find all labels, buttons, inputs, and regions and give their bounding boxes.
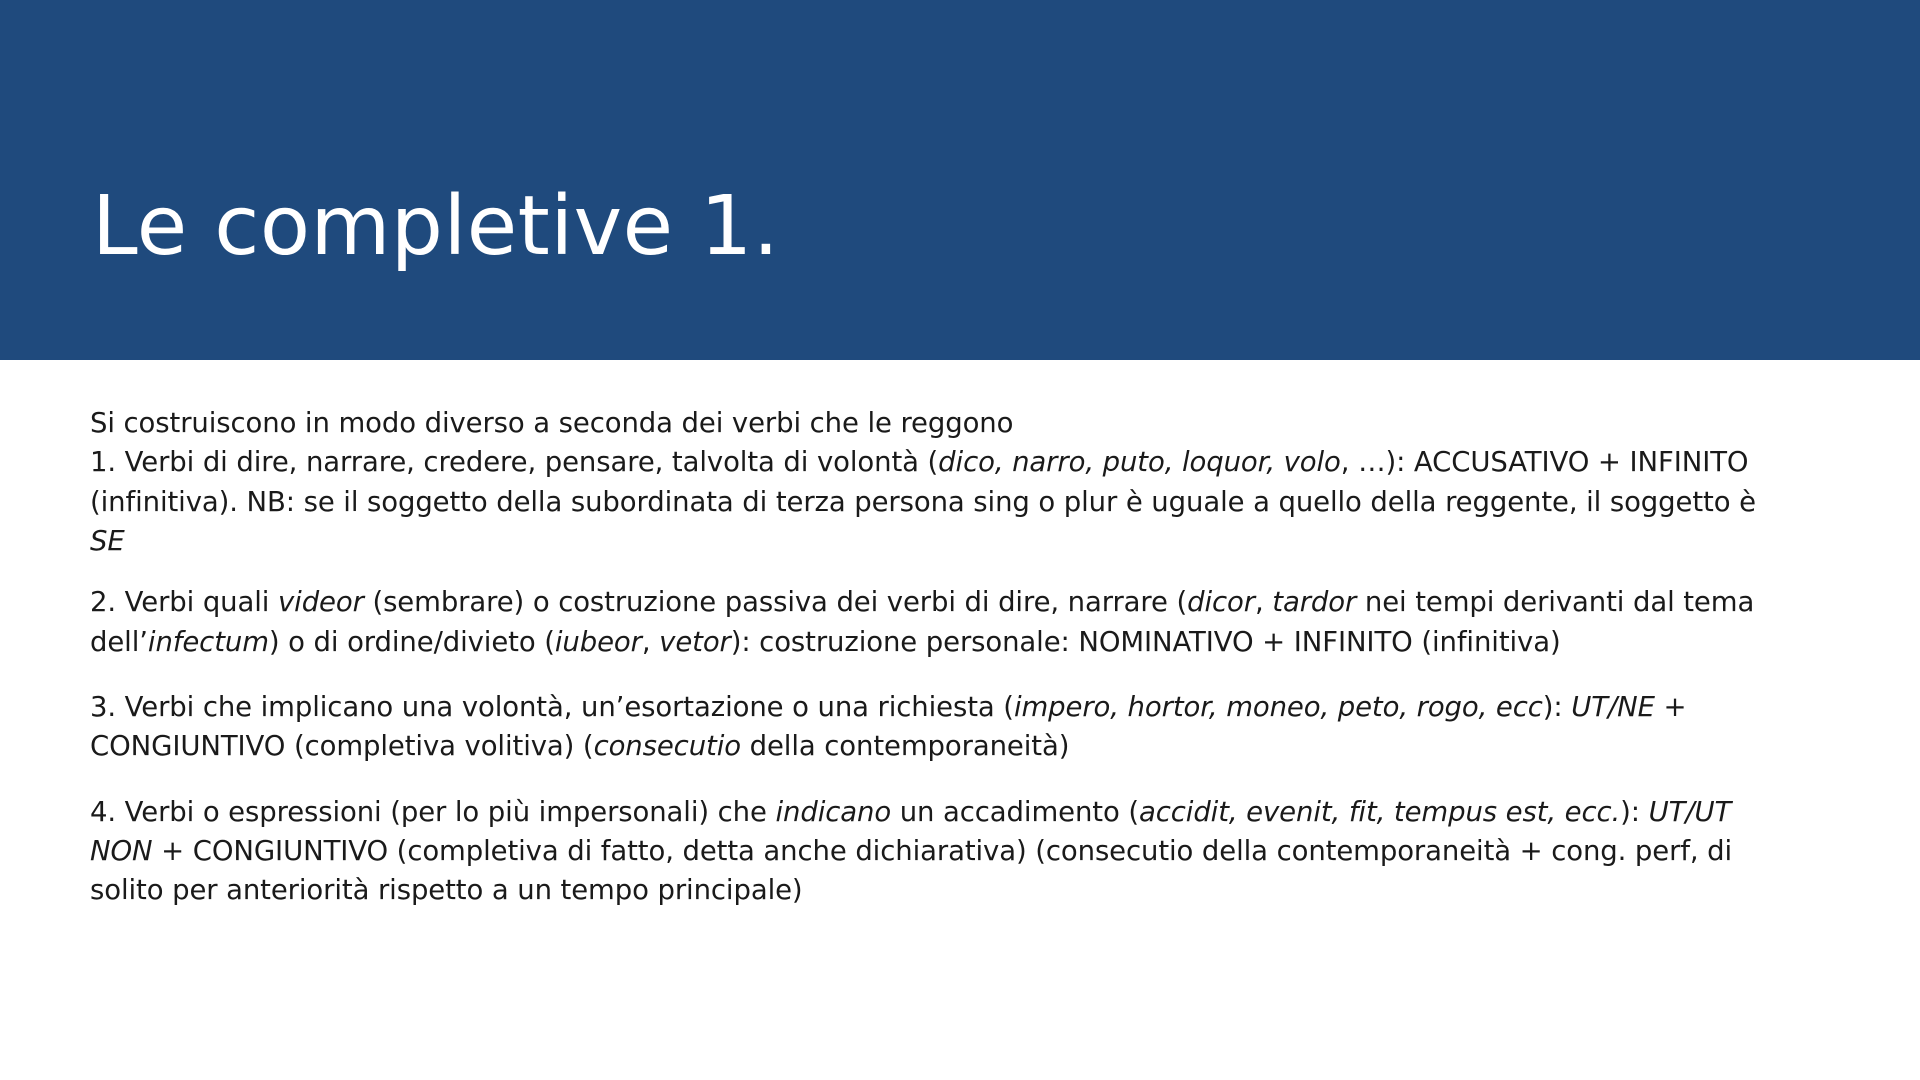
paragraph-intro: Si costruiscono in modo diverso a second… xyxy=(90,404,1780,561)
paragraph-point-2: 2. Verbi quali videor (sembrare) o costr… xyxy=(90,583,1780,662)
title-banner: Le completive 1. xyxy=(0,0,1920,360)
paragraph-point-3: 3. Verbi che implicano una volontà, un’e… xyxy=(90,688,1780,767)
slide: Le completive 1. Si costruiscono in modo… xyxy=(0,0,1920,1080)
slide-body: Si costruiscono in modo diverso a second… xyxy=(90,404,1780,910)
paragraph-point-4: 4. Verbi o espressioni (per lo più imper… xyxy=(90,793,1780,911)
page-title: Le completive 1. xyxy=(92,186,779,268)
